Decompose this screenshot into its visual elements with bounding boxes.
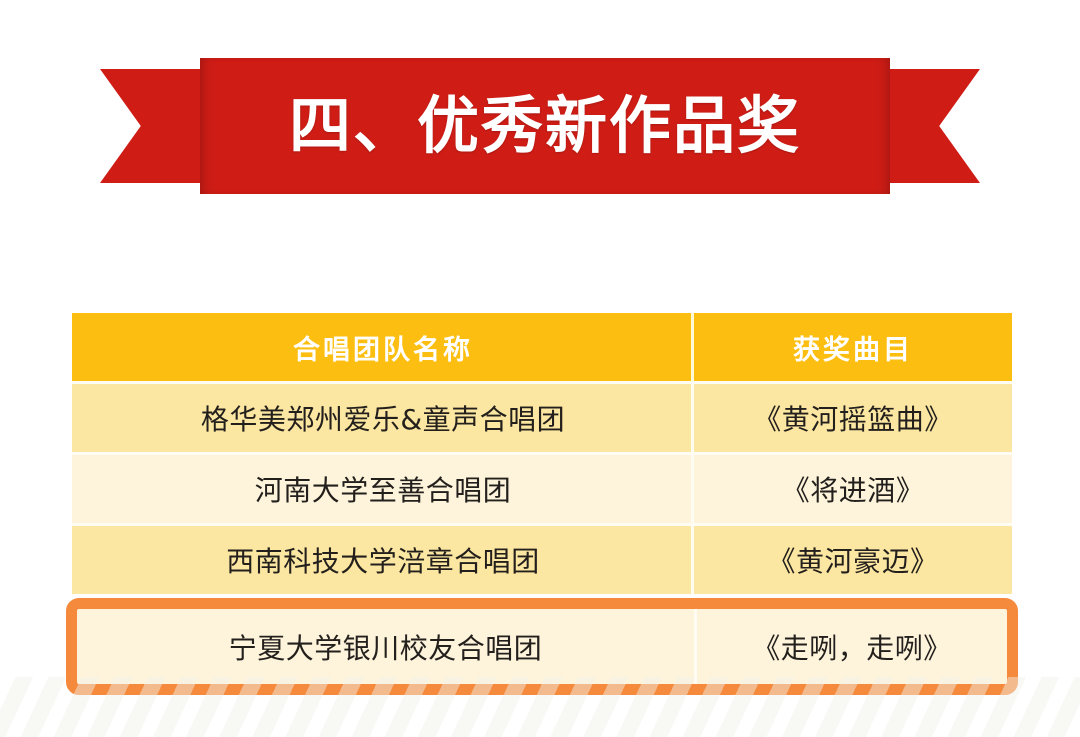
cell-choir-name: 格华美郑州爱乐&童声合唱团 — [72, 383, 694, 454]
cell-choir-name: 西南科技大学涪章合唱团 — [72, 525, 694, 595]
table-row: 西南科技大学涪章合唱团 《黄河豪迈》 — [72, 525, 1012, 595]
table-row-highlighted: 宁夏大学银川校友合唱团 《走咧，走咧》 — [77, 609, 1007, 684]
award-banner: 四、优秀新作品奖 — [0, 58, 1080, 194]
cell-award-song: 《黄河摇篮曲》 — [694, 383, 1012, 454]
column-header-award-song: 获奖曲目 — [694, 313, 1012, 383]
cell-award-song: 《走咧，走咧》 — [697, 609, 1007, 684]
column-header-choir-name: 合唱团队名称 — [72, 313, 694, 383]
table-row: 格华美郑州爱乐&童声合唱团 《黄河摇篮曲》 — [72, 383, 1012, 454]
cell-choir-name: 宁夏大学银川校友合唱团 — [77, 609, 694, 684]
table-header-row: 合唱团队名称 获奖曲目 — [72, 313, 1012, 383]
award-table: 合唱团队名称 获奖曲目 格华美郑州爱乐&童声合唱团 《黄河摇篮曲》 河南大学至善… — [72, 313, 1012, 594]
cell-award-song: 《黄河豪迈》 — [694, 525, 1012, 595]
banner-body: 四、优秀新作品奖 — [200, 58, 890, 194]
table-row: 河南大学至善合唱团 《将进酒》 — [72, 454, 1012, 525]
cell-award-song: 《将进酒》 — [694, 454, 1012, 525]
cell-choir-name: 河南大学至善合唱团 — [72, 454, 694, 525]
background-watermark — [0, 677, 1080, 737]
page-title: 四、优秀新作品奖 — [289, 95, 801, 157]
